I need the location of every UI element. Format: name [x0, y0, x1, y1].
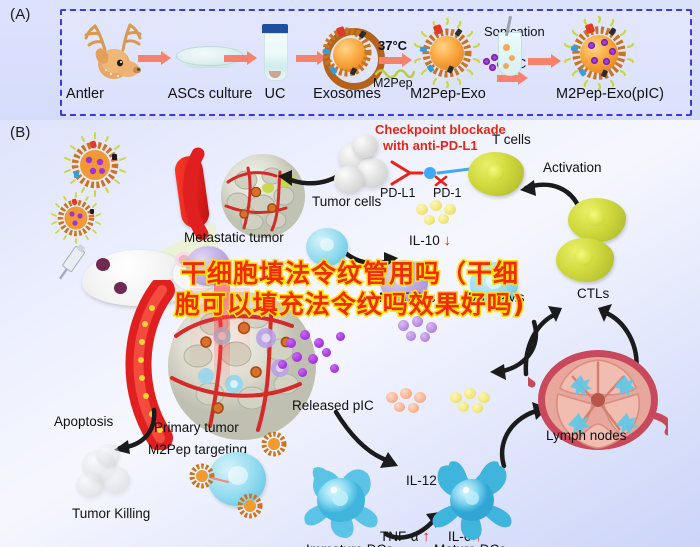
label-tumor-cells: Tumor cells	[312, 194, 381, 209]
antler-deer-illustration	[75, 20, 161, 82]
arrow-antler-to-culture	[138, 55, 162, 62]
label-ascs-culture: ASCs culture	[162, 86, 258, 102]
label-immature-dcs: Immature DCs	[306, 542, 393, 547]
label-pd1: PD-1	[433, 186, 461, 200]
panel-b-letter: (B)	[10, 124, 31, 141]
label-metastatic-tumor: Metastatic tumor	[184, 230, 284, 245]
sonication-tube-illustration	[498, 22, 520, 82]
label-apoptosis: Apoptosis	[54, 414, 113, 429]
uc-tube-illustration	[262, 24, 288, 86]
label-ctls: CTLs	[577, 286, 609, 301]
label-t-cells: T cells	[492, 132, 531, 147]
panel-a: (A)	[0, 0, 700, 120]
label-mature-dcs: Mature DCs	[434, 542, 506, 547]
arrow-to-final-product	[528, 58, 552, 65]
label-m2-tams: M2 TAMs	[379, 290, 436, 305]
panel-a-letter: (A)	[10, 6, 31, 23]
label-lymph-nodes: Lymph nodes	[546, 428, 627, 443]
label-tumor-killing: Tumor Killing	[72, 506, 150, 521]
label-activation: Activation	[543, 160, 602, 175]
label-antler: Antler	[40, 86, 130, 102]
label-checkpoint-blockade-line1: Checkpoint blockade	[375, 122, 506, 137]
temperature-label: 37°C	[378, 38, 407, 53]
arrow-culture-to-uc	[224, 55, 248, 62]
arrow-uc-to-exosomes	[296, 55, 318, 62]
arrow-exosome-to-m2pep-exo	[379, 57, 403, 64]
label-checkpoint-blockade-line2: with anti-PD-L1	[383, 138, 478, 153]
label-m2pep-exo: M2Pep-Exo	[399, 86, 497, 102]
label-m2pep-exo-pic: M2Pep-Exo(pIC)	[540, 86, 680, 102]
label-m1-tams: M1 TAMs	[468, 290, 525, 305]
cytokine-il10-arrow: ↓	[444, 232, 452, 249]
cytokine-il10-name: IL-10	[409, 233, 440, 248]
label-pdl1: PD-L1	[380, 186, 415, 200]
panel-b: Metastatic tumor Tumor cells Checkpoint …	[0, 120, 700, 547]
scientific-figure: (A)	[0, 0, 700, 547]
label-uc: UC	[250, 86, 300, 102]
cytokine-il10: IL-10 ↓	[409, 232, 451, 249]
